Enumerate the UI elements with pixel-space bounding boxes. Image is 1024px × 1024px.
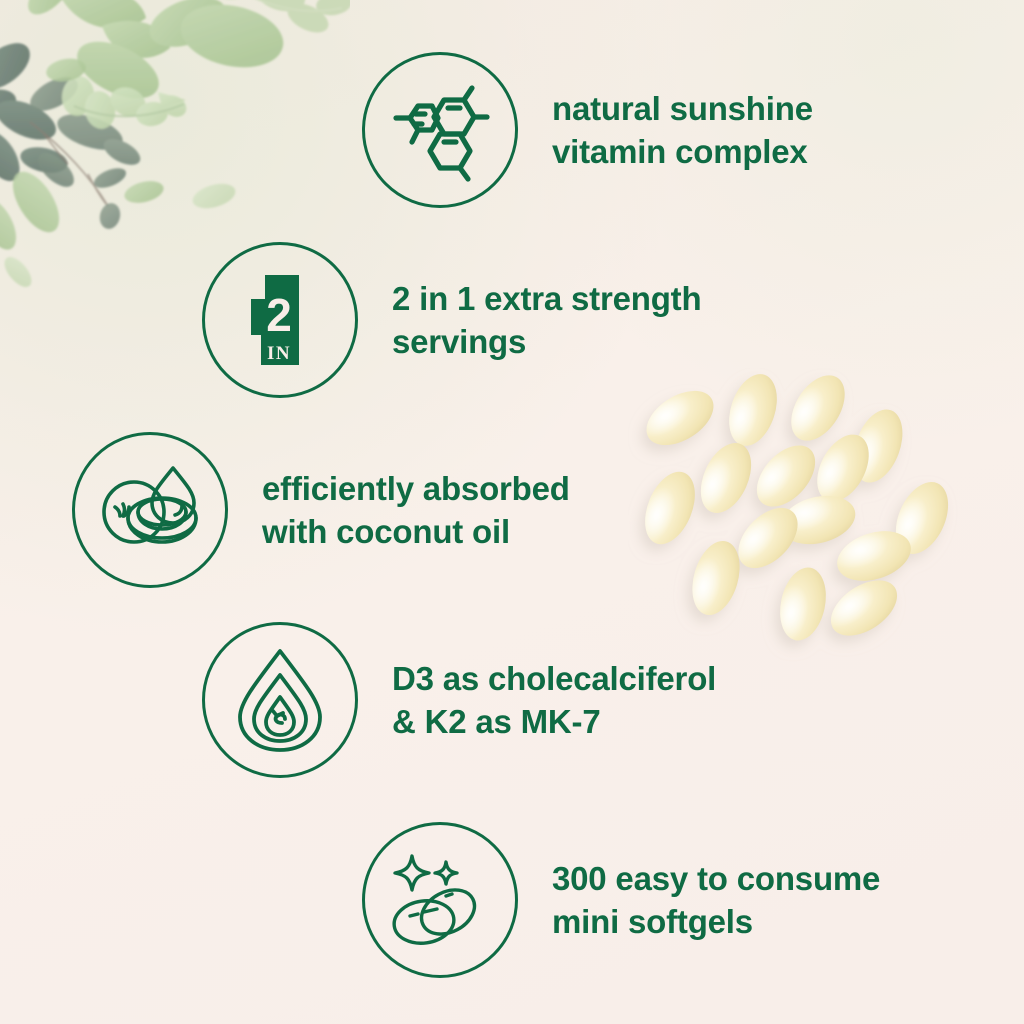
infographic-canvas: natural sunshine vitamin complex 2 IN 2 … — [0, 0, 1024, 1024]
softgel-capsules-sparkle-icon — [362, 822, 518, 978]
two-in-one-badge-icon: 2 IN — [202, 242, 358, 398]
botanical-sprig-decoration — [120, 0, 350, 120]
coconut-oil-droplet-icon — [72, 432, 228, 588]
feature-label: 300 easy to consume mini softgels — [552, 857, 880, 943]
badge-number: 2 — [266, 289, 292, 341]
feature-label: D3 as cholecalciferol & K2 as MK-7 — [392, 657, 716, 743]
feature-row-coconut-oil: efficiently absorbed with coconut oil — [72, 432, 570, 588]
spiral-droplet-icon — [202, 622, 358, 778]
molecule-hexagons-icon — [362, 52, 518, 208]
feature-row-d3-k2: D3 as cholecalciferol & K2 as MK-7 — [202, 622, 716, 778]
feature-label: natural sunshine vitamin complex — [552, 87, 813, 173]
feature-row-natural-sunshine: natural sunshine vitamin complex — [362, 52, 813, 208]
feature-row-two-in-one: 2 IN 2 in 1 extra strength servings — [202, 242, 701, 398]
feature-row-mini-softgels: 300 easy to consume mini softgels — [362, 822, 880, 978]
feature-label: 2 in 1 extra strength servings — [392, 277, 701, 363]
badge-word: IN — [267, 343, 291, 364]
feature-label: efficiently absorbed with coconut oil — [262, 467, 570, 553]
